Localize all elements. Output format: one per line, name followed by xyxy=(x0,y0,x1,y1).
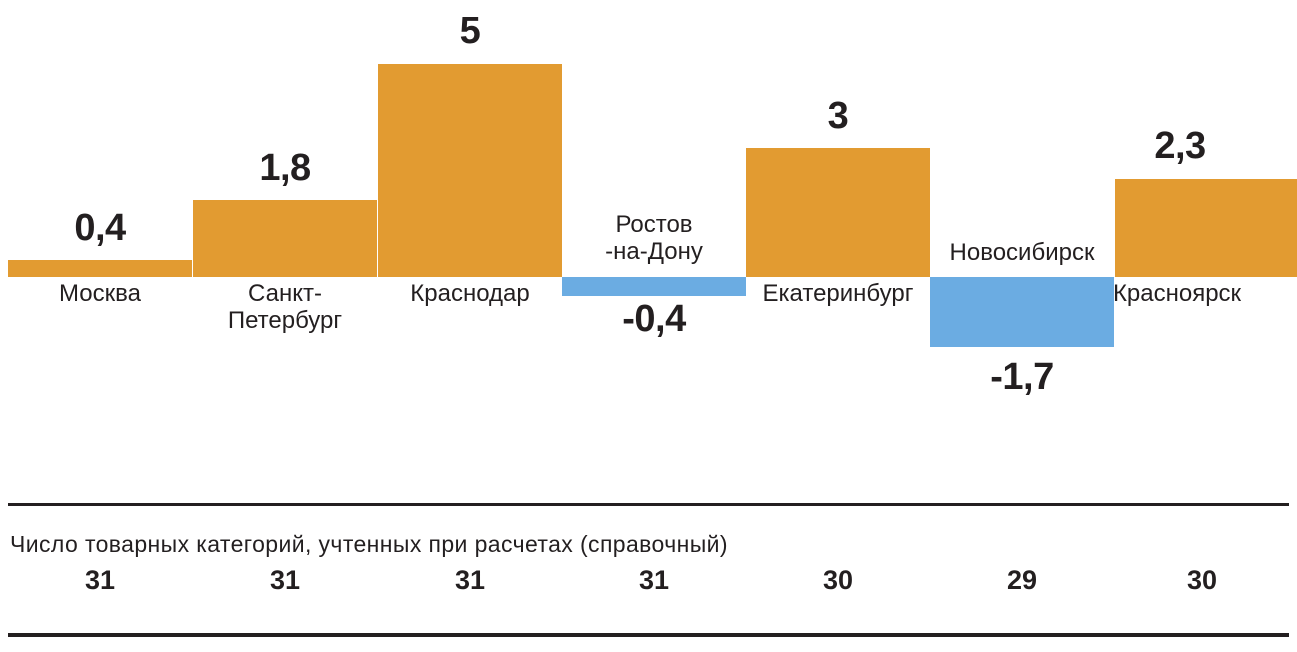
bar-krasnoyarsk[interactable] xyxy=(1115,179,1297,277)
reference-table-values-row: 31 31 31 31 30 29 30 xyxy=(8,565,1289,605)
reference-value-moskva: 31 xyxy=(8,565,192,596)
bar-label-line-1: Ростов xyxy=(615,211,692,238)
bar-moskva[interactable] xyxy=(8,260,192,277)
reference-value-novosibirsk: 29 xyxy=(930,565,1114,596)
bar-column-rostov-na-donu[interactable]: Ростов-на-Дону -0,4 xyxy=(562,0,746,470)
reference-value-krasnodar: 31 xyxy=(378,565,562,596)
reference-value-rostov-na-donu: 31 xyxy=(562,565,746,596)
bar-column-ekaterinburg[interactable]: 3 Екатеринбург xyxy=(746,0,930,470)
reference-table: Число товарных категорий, учтенных при р… xyxy=(8,503,1289,636)
table-top-rule xyxy=(8,503,1289,506)
bar-label-line-1: Санкт- xyxy=(248,280,322,307)
bar-column-krasnoyarsk[interactable]: 2,3 Красноярск xyxy=(1115,0,1297,470)
reference-value-sankt-peterburg: 31 xyxy=(193,565,377,596)
chart-page: 0,4 Москва 1,8 Санкт-Петербург 5 Краснод… xyxy=(0,0,1297,652)
reference-value-ekaterinburg: 30 xyxy=(746,565,930,596)
table-bottom-rule xyxy=(8,633,1289,637)
bar-column-moskva[interactable]: 0,4 Москва xyxy=(8,0,192,470)
bar-label-line-2: Петербург xyxy=(228,307,342,334)
bar-label-krasnoyarsk: Красноярск xyxy=(1055,281,1297,308)
waterfall-bar-chart: 0,4 Москва 1,8 Санкт-Петербург 5 Краснод… xyxy=(0,0,1297,470)
bar-column-novosibirsk[interactable]: Новосибирск -1,7 xyxy=(930,0,1114,470)
bar-sankt-peterburg[interactable] xyxy=(193,200,377,277)
bar-label-line-2: -на-Дону xyxy=(605,238,703,265)
bar-value-krasnoyarsk: 2,3 xyxy=(1069,127,1291,165)
reference-value-krasnoyarsk: 30 xyxy=(1115,565,1289,596)
bar-column-sankt-peterburg[interactable]: 1,8 Санкт-Петербург xyxy=(193,0,377,470)
reference-table-caption: Число товарных категорий, учтенных при р… xyxy=(10,531,728,558)
